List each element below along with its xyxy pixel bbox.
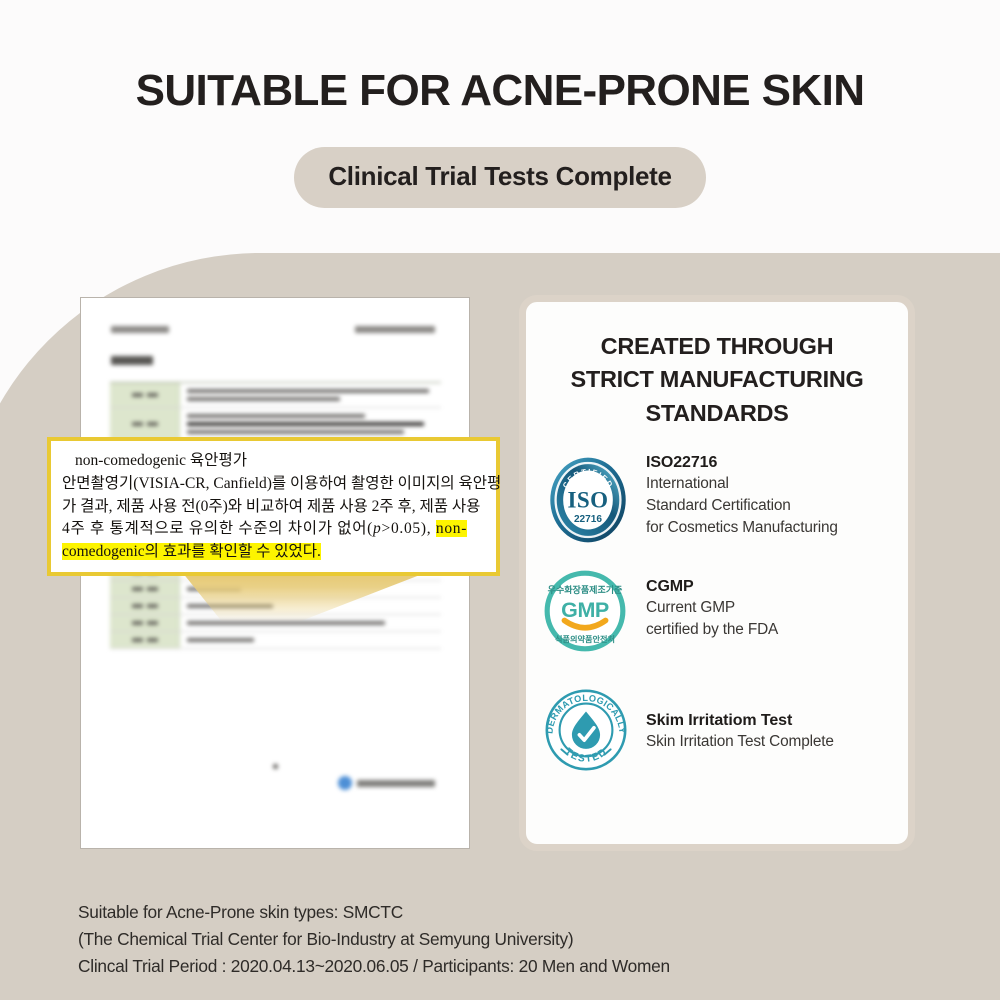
svg-text:식품의약품안전처: 식품의약품안전처 <box>555 634 615 644</box>
cert-item-text: CGMP Current GMP certified by the FDA <box>634 568 778 641</box>
table-row-label <box>110 598 180 614</box>
document-official-stamp <box>338 776 435 790</box>
certification-list: ISO 22716 CERTIFIED ISO22716 Internation… <box>526 450 908 786</box>
callout-line-3: 가 결과, 제품 사용 전(0주)와 비교하여 제품 사용 2주 후, 제품 사… <box>62 496 485 519</box>
callout-p-value-symbol: p <box>373 520 381 537</box>
cert-item-desc-line-2: certified by the FDA <box>646 619 778 641</box>
callout-box: non-comedogenic 육안평가 안면촬영기(VISIA-CR, Can… <box>47 437 500 576</box>
table-row-value <box>180 408 441 440</box>
certification-heading-line-1: CREATED THROUGH <box>526 330 908 363</box>
caption-line-3: Clincal Trial Period : 2020.04.13~2020.0… <box>78 953 670 980</box>
certification-heading-line-2: STRICT MANUFACTURING <box>526 363 908 396</box>
cert-item-skin-irritation: DERMATOLOGICALLY TESTED Skim Irritatiom … <box>526 686 908 786</box>
seal-label <box>357 780 435 787</box>
callout-line-2: 안면촬영기(VISIA-CR, Canfield)를 이용하여 촬영한 이미지의… <box>62 473 485 496</box>
cert-item-cgmp: 우수화장품제조기준 GMP 식품의약품안전처 CGMP Current GMP … <box>526 568 908 668</box>
svg-text:GMP: GMP <box>561 598 609 622</box>
table-row-label <box>110 615 180 631</box>
callout-line-4: 4주 후 통계적으로 유의한 수준의 차이가 없어(p>0.05), non- <box>62 518 485 541</box>
caption-line-1: Suitable for Acne-Prone skin types: SMCT… <box>78 899 670 926</box>
cert-item-text: ISO22716 International Standard Certific… <box>634 450 838 539</box>
callout-line-4-mid: >0.05), <box>382 520 436 537</box>
certification-heading: CREATED THROUGH STRICT MANUFACTURING STA… <box>526 330 908 430</box>
table-row-label <box>110 632 180 648</box>
certification-heading-line-3: STANDARDS <box>526 397 908 430</box>
callout-line-4-pre: 4주 후 통계적으로 유의한 수준의 차이가 없어( <box>62 520 373 537</box>
table-row-label <box>110 408 180 440</box>
document-header-row <box>111 326 441 335</box>
svg-text:우수화장품제조기준: 우수화장품제조기준 <box>548 584 623 595</box>
document-section-title <box>111 356 153 365</box>
document-header-right <box>355 326 435 333</box>
cert-item-desc-line-2: Standard Certification <box>646 495 838 517</box>
callout-line-5: comedogenic의 효과를 확인할 수 있었다. <box>62 541 485 564</box>
clinical-trial-badge: Clinical Trial Tests Complete <box>294 147 705 208</box>
cert-item-text: Skim Irritatiom Test Skin Irritation Tes… <box>634 686 834 753</box>
table-row-label <box>110 383 180 407</box>
gmp-certified-badge-icon: 우수화장품제조기준 GMP 식품의약품안전처 <box>542 568 634 668</box>
cert-item-desc-line-1: Current GMP <box>646 597 778 619</box>
header: SUITABLE FOR ACNE-PRONE SKIN Clinical Tr… <box>0 0 1000 208</box>
cert-item-title: ISO22716 <box>646 454 838 472</box>
cert-item-title: CGMP <box>646 578 778 596</box>
iso-certified-badge-icon: ISO 22716 CERTIFIED <box>542 450 634 550</box>
callout-line-4-highlight: non- <box>436 520 467 537</box>
certification-panel: CREATED THROUGH STRICT MANUFACTURING STA… <box>519 295 915 851</box>
svg-text:ISO: ISO <box>567 487 608 512</box>
table-row <box>110 632 441 649</box>
seal-icon <box>338 776 352 790</box>
svg-text:22716: 22716 <box>574 514 602 525</box>
table-row-label <box>110 581 180 597</box>
cert-item-desc-line-1: International <box>646 473 838 495</box>
trial-caption: Suitable for Acne-Prone skin types: SMCT… <box>78 899 670 980</box>
table-row-value <box>180 383 441 407</box>
document-header-left <box>111 326 169 333</box>
cert-item-desc-line-3: for Cosmetics Manufacturing <box>646 517 838 539</box>
dermatologically-tested-badge-icon: DERMATOLOGICALLY TESTED <box>542 686 634 786</box>
cert-item-iso22716: ISO 22716 CERTIFIED ISO22716 Internation… <box>526 450 908 550</box>
table-row-value <box>180 632 441 648</box>
table-row <box>110 383 441 408</box>
page-title: SUITABLE FOR ACNE-PRONE SKIN <box>0 66 1000 116</box>
callout-line-5-highlight: comedogenic의 효과를 확인할 수 있었다. <box>62 543 321 560</box>
caption-line-2: (The Chemical Trial Center for Bio-Indus… <box>78 926 670 953</box>
cert-item-title: Skim Irritatiom Test <box>646 712 834 730</box>
callout-line-1: non-comedogenic 육안평가 <box>62 450 485 473</box>
cert-item-desc-line-1: Skin Irritation Test Complete <box>646 731 834 753</box>
document-page-number <box>273 764 278 769</box>
magnified-excerpt-callout: non-comedogenic 육안평가 안면촬영기(VISIA-CR, Can… <box>47 437 500 576</box>
